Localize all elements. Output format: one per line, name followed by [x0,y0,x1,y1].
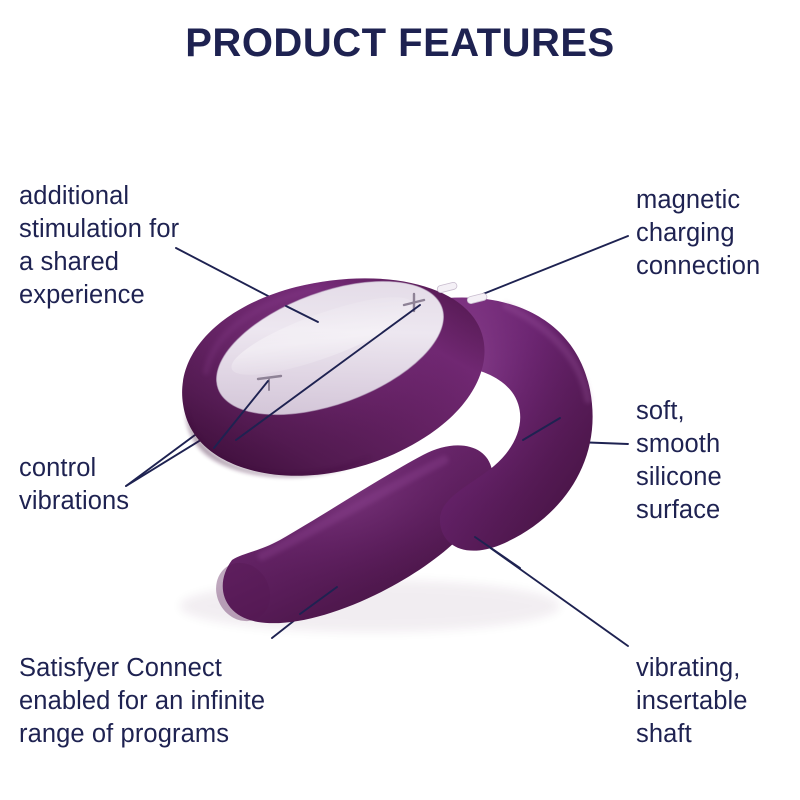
callout-line: shaft [636,718,748,751]
lower-shaft [223,445,493,623]
leader-line-magnetic [478,236,628,296]
control-panel-rim [199,255,461,442]
callout-line: vibrating, [636,652,748,685]
upper-lobe-rim-highlight [206,289,318,372]
leader-line-control-plus [126,305,420,486]
callout-line: connection [636,250,760,283]
leader-line-additional [176,248,318,322]
leader-lines [126,236,628,646]
upper-lobe-sheen [182,278,484,475]
right-bend-highlight [506,306,588,400]
charging-contact-2 [467,293,488,305]
upper-lobe [182,278,484,475]
right-bend [412,298,593,551]
callout-line: Satisfyer Connect [19,652,265,685]
callout-line: enabled for an infinite [19,685,265,718]
leader-line-tips [214,305,560,614]
callout-line: experience [19,279,179,312]
callout-line: stimulation for [19,213,179,246]
right-bend-sheen [412,298,593,551]
callout-line: magnetic [636,184,760,217]
callout-magnetic-charging: magnetic charging connection [636,184,760,283]
charging-contacts [437,282,488,305]
callout-line: charging [636,217,760,250]
leader-line-control-minus [126,381,268,486]
callout-line: surface [636,494,722,527]
callout-soft-smooth-silicone: soft, smooth silicone surface [636,395,722,527]
control-panel[interactable] [199,255,461,442]
product-shadow [180,580,560,632]
callout-line: a shared [19,246,179,279]
product-features-page: PRODUCT FEATURES [0,0,800,800]
leader-tip-connect [300,587,337,614]
upper-lobe-shading [186,408,372,477]
plus-icon-horizontal [404,300,424,305]
leader-line-connect [272,587,337,638]
callout-line: soft, [636,395,722,428]
lower-shaft-sheen [223,445,493,623]
callout-line: insertable [636,685,748,718]
charging-contact-1 [437,282,458,294]
leader-line-soft [523,440,628,444]
callout-vibrating-insertable-shaft: vibrating, insertable shaft [636,652,748,751]
leader-tip-control-minus [214,381,268,448]
minus-button[interactable] [258,376,281,390]
callout-line: smooth [636,428,722,461]
leader-line-vibrating [475,537,628,646]
product-body [180,255,593,632]
callout-satisfyer-connect: Satisfyer Connect enabled for an infinit… [19,652,265,751]
leader-tip-additional [286,306,318,322]
callout-control-vibrations: control vibrations [19,452,129,518]
lower-shaft-tip [206,553,280,630]
page-title: PRODUCT FEATURES [0,21,800,65]
lower-shaft-highlight [262,460,444,556]
callout-additional-stimulation: additional stimulation for a shared expe… [19,180,179,312]
plus-button[interactable] [404,294,424,311]
leader-tip-vibrating [475,537,520,568]
leader-tip-soft [523,418,560,440]
callout-line: range of programs [19,718,265,751]
callout-line: additional [19,180,179,213]
control-panel-gloss [224,282,419,389]
callout-line: control [19,452,129,485]
callout-line: vibrations [19,485,129,518]
callout-line: silicone [636,461,722,494]
leader-tip-control-plus [236,305,420,440]
minus-icon [258,376,281,379]
